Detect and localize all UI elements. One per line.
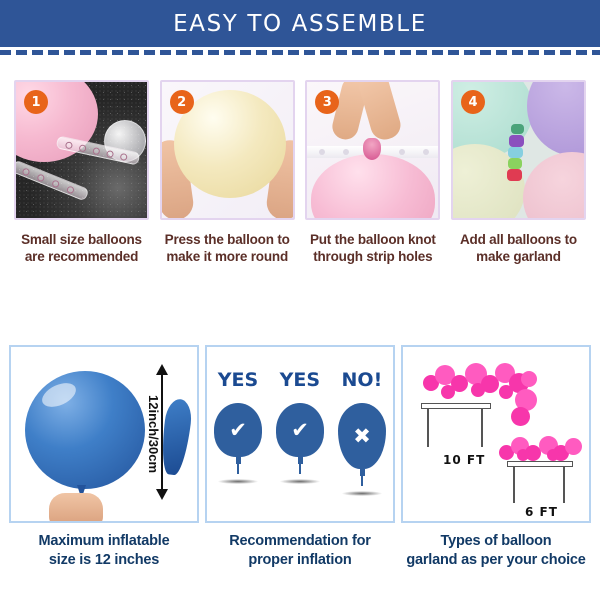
card-art-max-size: 12inch/30cm (9, 345, 199, 523)
step-item: 3 Put the balloon knot through strip hol… (305, 80, 440, 285)
garland-label-6ft: 6 FT (525, 505, 558, 519)
check-icon: ✔ (276, 403, 324, 457)
card-art-inflation: YES YES NO! ✔ ✔ (205, 345, 395, 523)
step-photo-2: 2 (160, 80, 295, 220)
knot-green (511, 124, 524, 134)
step-caption-line2: make garland (460, 248, 577, 265)
product-infographic: Easy To Assemble 1 Smal (0, 0, 600, 600)
step-photo-3: 3 (305, 80, 440, 220)
check-icon: ✔ (214, 403, 262, 457)
step-caption-line2: are recommended (21, 248, 142, 265)
option-label-yes-2: YES (280, 369, 320, 391)
card-caption: Types of balloon garland as per your cho… (406, 532, 585, 570)
card-max-size: 12inch/30cm Maximum inflatable size is 1… (9, 345, 199, 570)
knot-lime (508, 158, 522, 169)
balloon-string (361, 476, 363, 486)
table-6ft (507, 461, 573, 503)
deflated-balloon (158, 398, 193, 477)
card-garland-types: 10 FT 6 FT T (401, 345, 591, 570)
card-caption-line2: garland as per your choice (406, 551, 585, 570)
balloon-option-no: ✖ (337, 403, 387, 496)
balloon-knot (236, 457, 241, 464)
balloon-knot (298, 457, 303, 464)
step-caption: Press the balloon to make it more round (165, 231, 290, 265)
assembly-steps: 1 Small size balloons are recommended 2 … (0, 80, 600, 285)
pink-balloon (523, 152, 586, 220)
garland-label-10ft: 10 FT (443, 453, 485, 467)
card-art-garland: 10 FT 6 FT (401, 345, 591, 523)
card-caption-line2: proper inflation (229, 551, 370, 570)
step-caption: Small size balloons are recommended (21, 231, 142, 265)
step-item: 4 Add all balloons to make garland (451, 80, 586, 285)
step-badge: 2 (170, 90, 194, 114)
balloon-option-yes-1: ✔ (213, 403, 263, 484)
step-caption-line1: Add all balloons to (460, 231, 577, 248)
info-cards: 12inch/30cm Maximum inflatable size is 1… (0, 345, 600, 570)
index-finger (357, 80, 405, 143)
step-caption-line2: through strip holes (310, 248, 436, 265)
step-badge: 1 (24, 90, 48, 114)
dashed-divider (0, 50, 600, 55)
step-caption-line1: Put the balloon knot (310, 231, 436, 248)
header-banner: Easy To Assemble (0, 0, 600, 47)
step-caption-line2: make it more round (165, 248, 290, 265)
card-caption-line1: Maximum inflatable (39, 532, 170, 551)
card-caption-line1: Types of balloon (406, 532, 585, 551)
arrow-head-down-icon (156, 489, 168, 500)
table-10ft (421, 403, 491, 447)
inflation-balloons: ✔ ✔ ✖ (207, 403, 393, 496)
step-item: 2 Press the balloon to make it more roun… (160, 80, 295, 285)
balloon-shadow (280, 479, 320, 484)
step-caption: Add all balloons to make garland (460, 231, 577, 265)
balloon-option-yes-2: ✔ (275, 403, 325, 484)
card-caption: Maximum inflatable size is 12 inches (39, 532, 170, 570)
card-caption-line2: size is 12 inches (39, 551, 170, 570)
step-caption-line1: Press the balloon to (165, 231, 290, 248)
balloon-string (299, 464, 301, 474)
step-photo-1: 1 (14, 80, 149, 220)
size-label: 12inch/30cm (146, 395, 161, 473)
purple-balloon (527, 80, 586, 156)
knot-mint (508, 147, 523, 158)
step-caption: Put the balloon knot through strip holes (310, 231, 436, 265)
card-caption: Recommendation for proper inflation (229, 532, 370, 570)
balloon-knot (360, 469, 365, 476)
step-item: 1 Small size balloons are recommended (14, 80, 149, 285)
option-label-no: NO! (342, 369, 383, 391)
hand-holding-balloon (49, 493, 103, 523)
step-photo-4: 4 (451, 80, 586, 220)
card-inflation-guide: YES YES NO! ✔ ✔ (205, 345, 395, 570)
pink-balloon (311, 154, 435, 220)
knot-purple (509, 135, 524, 147)
balloon-shadow (218, 479, 258, 484)
knot-red (507, 169, 522, 181)
cross-icon: ✖ (338, 403, 386, 469)
step-caption-line1: Small size balloons (21, 231, 142, 248)
blue-balloon (25, 371, 145, 489)
step-badge: 4 (461, 90, 485, 114)
balloon-string (237, 464, 239, 474)
inflation-labels: YES YES NO! (207, 369, 393, 391)
card-caption-line1: Recommendation for (229, 532, 370, 551)
option-label-yes-1: YES (218, 369, 258, 391)
balloon-shadow (342, 491, 382, 496)
page-title: Easy To Assemble (173, 11, 427, 37)
